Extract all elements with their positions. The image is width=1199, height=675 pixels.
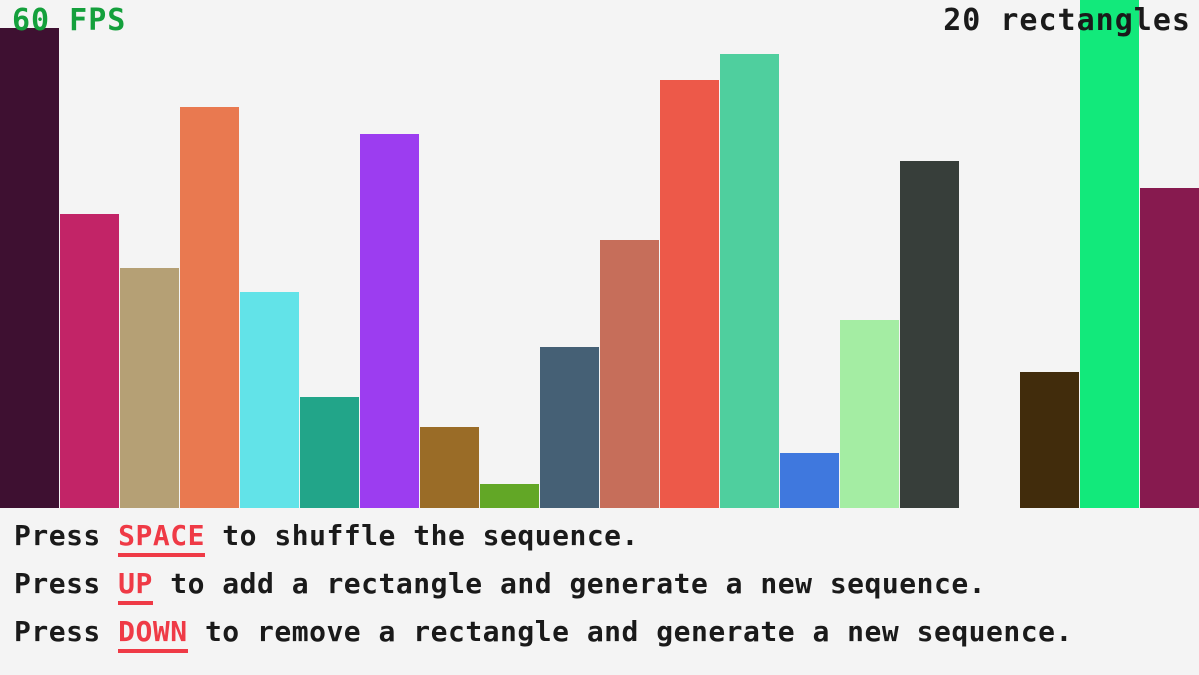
bar-rectangle [600, 240, 659, 508]
bar-rectangle [480, 484, 539, 508]
bar-rectangle [720, 54, 779, 508]
bar-rectangle [840, 320, 899, 508]
bar-rectangle [780, 453, 839, 508]
bar-rectangle [60, 214, 119, 508]
bar-rectangle [0, 28, 59, 508]
bar-rectangle [1140, 188, 1199, 508]
bar-rectangle [120, 268, 179, 508]
instruction-add-prefix: Press [14, 567, 118, 600]
instructions-panel: Press SPACE to shuffle the sequence. Pre… [0, 508, 1199, 675]
instruction-shuffle-prefix: Press [14, 519, 118, 552]
instruction-remove-suffix: to remove a rectangle and generate a new… [188, 615, 1073, 648]
key-down[interactable]: DOWN [118, 615, 187, 653]
bar-rectangle [180, 107, 239, 508]
app-root: 60 FPS 20 rectangles Press SPACE to shuf… [0, 0, 1199, 675]
bar-rectangle [360, 134, 419, 508]
bar-rectangle [900, 161, 959, 508]
rectangle-chart[interactable] [0, 0, 1199, 508]
key-space[interactable]: SPACE [118, 519, 205, 557]
instruction-shuffle-suffix: to shuffle the sequence. [205, 519, 639, 552]
bar-rectangle [1080, 0, 1139, 508]
instruction-add: Press UP to add a rectangle and generate… [0, 570, 1199, 598]
bar-rectangle [420, 427, 479, 508]
bar-rectangle [240, 292, 299, 508]
instruction-remove-prefix: Press [14, 615, 118, 648]
bar-rectangle [660, 80, 719, 508]
bar-rectangle [300, 397, 359, 508]
rectangle-count-label: 20 rectangles [943, 6, 1191, 36]
instruction-add-suffix: to add a rectangle and generate a new se… [153, 567, 986, 600]
bar-rectangle [540, 347, 599, 508]
bar-rectangle [1020, 372, 1079, 508]
instruction-remove: Press DOWN to remove a rectangle and gen… [0, 618, 1199, 646]
key-up[interactable]: UP [118, 567, 153, 605]
fps-counter: 60 FPS [12, 6, 126, 36]
instruction-shuffle: Press SPACE to shuffle the sequence. [0, 522, 1199, 550]
